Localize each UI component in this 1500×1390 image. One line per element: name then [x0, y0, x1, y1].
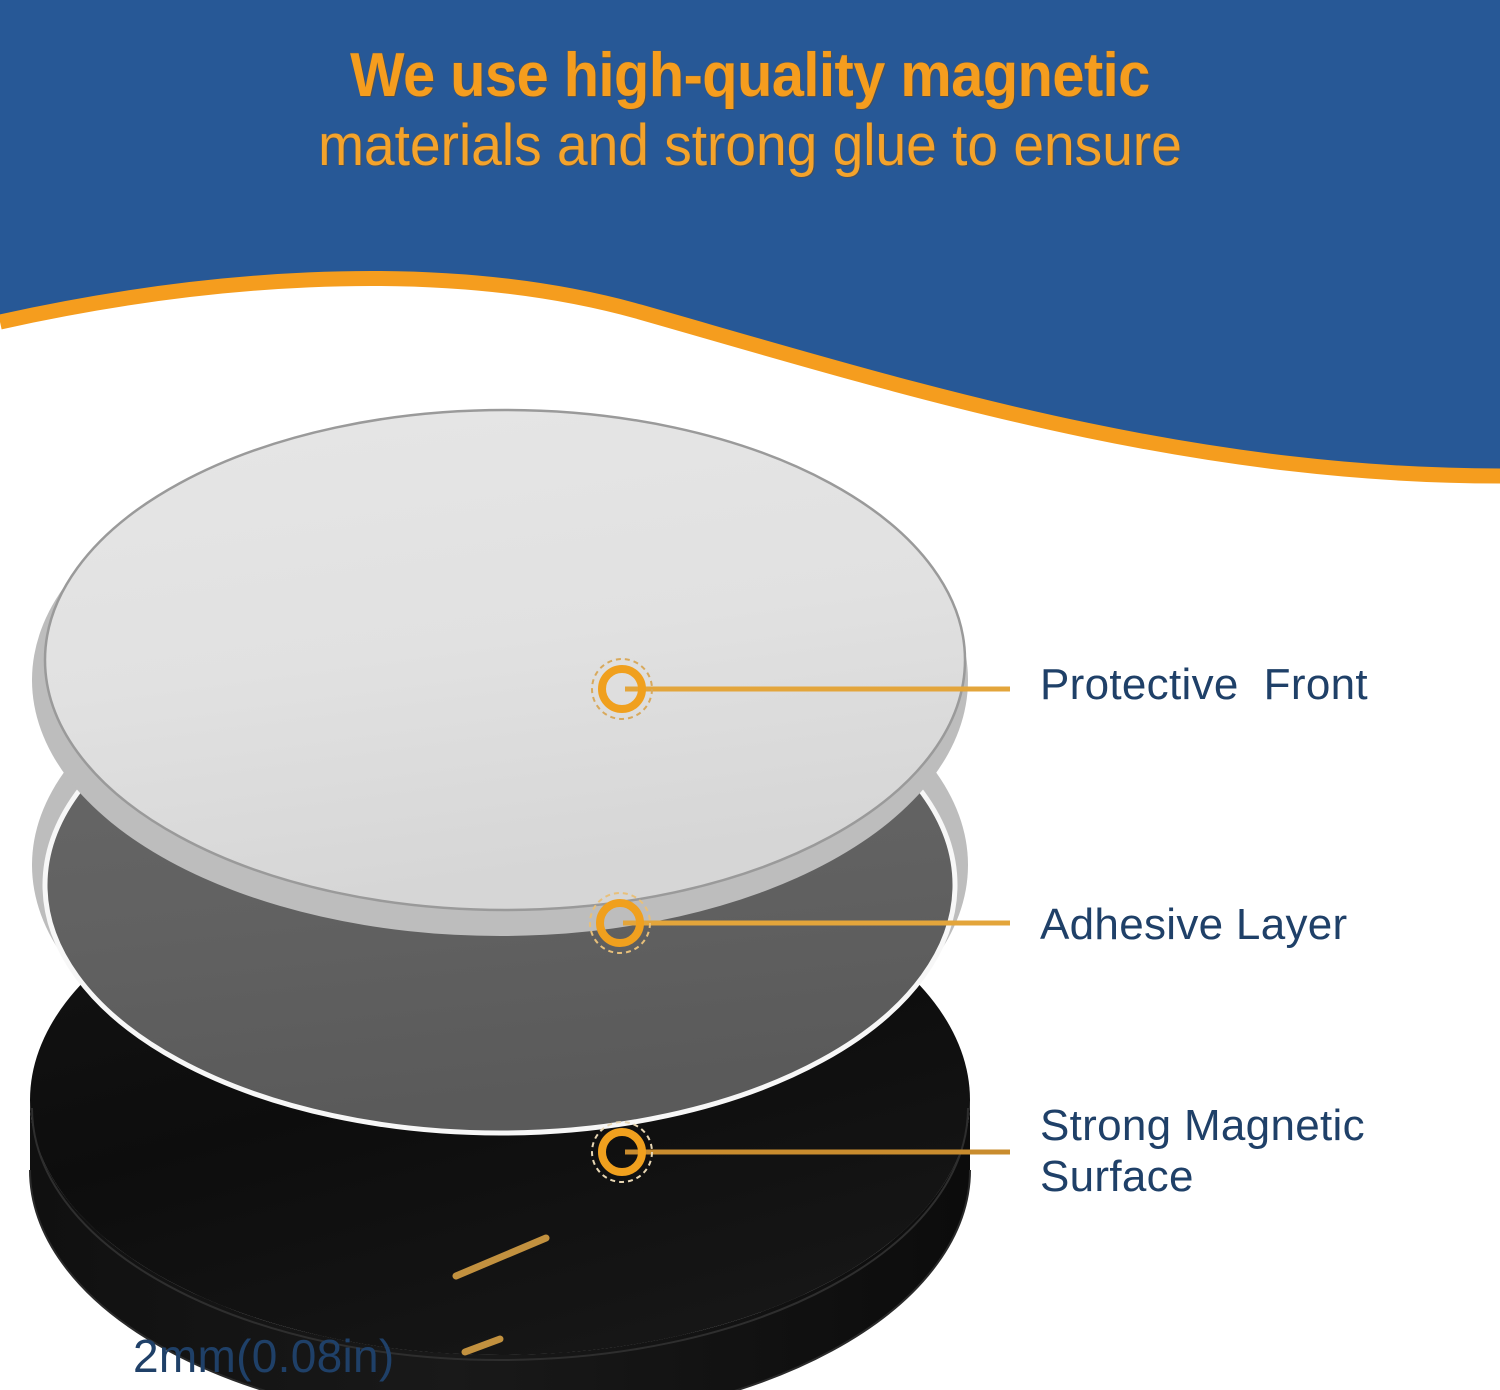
callout-label-protective-front: Protective Front — [1040, 659, 1368, 710]
infographic-canvas: We use high-quality magnetic materials a… — [0, 0, 1500, 1390]
thickness-dimension-label: 2mm(0.08in) — [133, 1329, 395, 1383]
disc-face-white — [45, 410, 965, 910]
callout-label-adhesive-layer: Adhesive Layer — [1040, 899, 1348, 950]
layer-protective-front — [45, 410, 965, 910]
callout-label-magnetic-surface: Strong Magnetic Surface — [1040, 1100, 1365, 1202]
